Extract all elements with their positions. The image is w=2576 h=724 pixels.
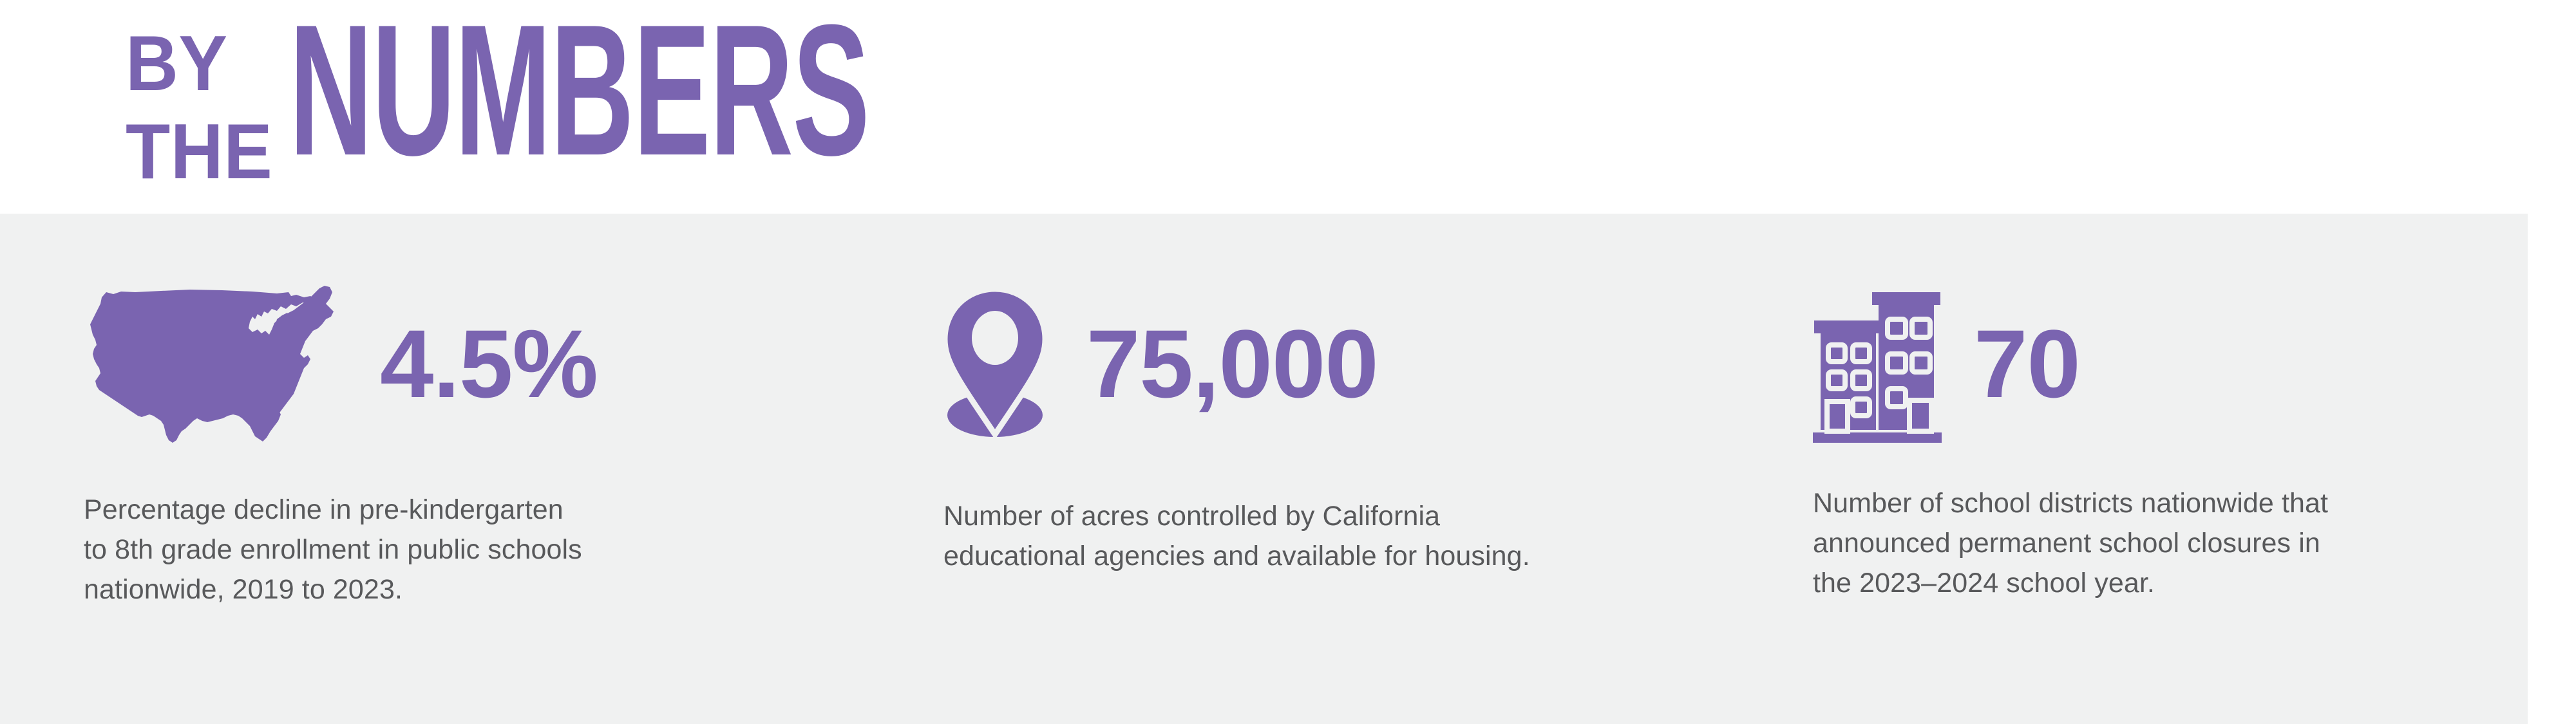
stats-band: 4.5% Percentage decline in pre-kindergar…	[0, 214, 2528, 724]
title-word-the: THE	[126, 118, 272, 185]
stat-value: 75,000	[1086, 315, 1378, 412]
stat-caption: Percentage decline in pre-kindergarten t…	[84, 490, 586, 610]
stat-caption: Number of school districts nationwide th…	[1813, 484, 2354, 604]
stat-card-available-acres: 75,000 Number of acres controlled by Cal…	[943, 214, 1703, 724]
buildings-icon	[1813, 283, 1942, 444]
stat-headline-row: 70	[1813, 278, 2080, 449]
stat-card-enrollment-decline: 4.5% Percentage decline in pre-kindergar…	[84, 214, 876, 724]
header-banner: BY THE NUMBERS	[0, 0, 2576, 214]
stat-headline-row: 4.5%	[84, 278, 598, 449]
stat-value: 4.5%	[380, 315, 598, 412]
stat-card-district-closures: 70 Number of school districts nationwide…	[1813, 214, 2495, 724]
location-pin-icon	[943, 289, 1046, 438]
stat-caption: Number of acres controlled by California…	[943, 497, 1562, 577]
page-title: BY THE NUMBERS	[126, 23, 1224, 185]
title-word-numbers: NUMBERS	[289, 23, 869, 158]
title-word-by: BY	[126, 30, 272, 97]
title-stacked-words: BY THE	[126, 30, 284, 185]
stat-headline-row: 75,000	[943, 278, 1378, 449]
stat-value: 70	[1974, 315, 2080, 412]
us-map-icon	[84, 283, 341, 444]
